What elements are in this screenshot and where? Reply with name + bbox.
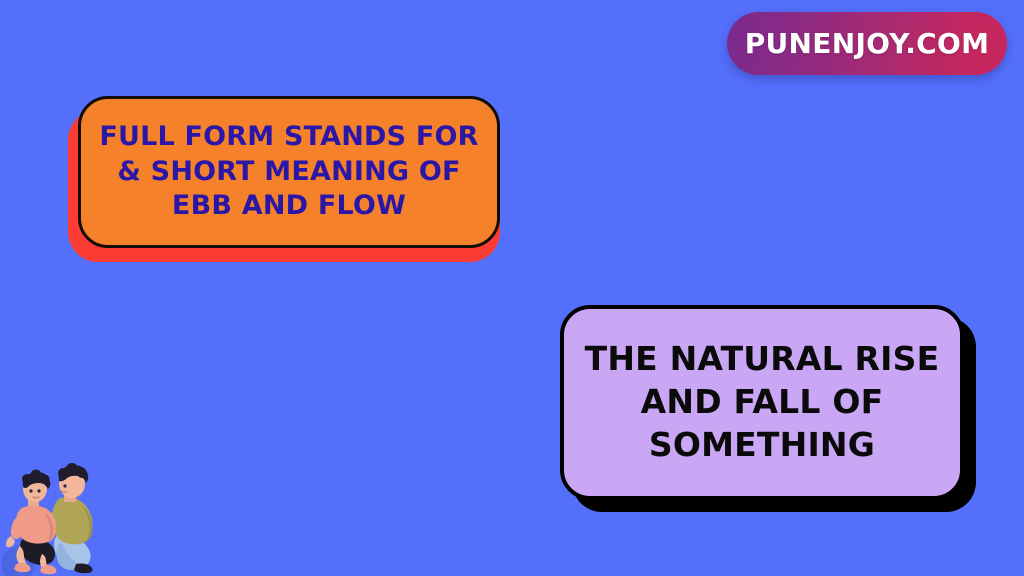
- slide-canvas: PUNENJOY.COM FULL FORM STANDS FOR & SHOR…: [0, 0, 1024, 576]
- answer-card-text: THE NATURAL RISE AND FALL OF SOMETHING: [585, 338, 940, 467]
- question-card: FULL FORM STANDS FOR & SHORT MEANING OF …: [68, 96, 518, 266]
- answer-card-face: THE NATURAL RISE AND FALL OF SOMETHING: [560, 305, 964, 500]
- question-card-text: FULL FORM STANDS FOR & SHORT MEANING OF …: [99, 120, 478, 224]
- two-seated-people-illustration: [2, 446, 124, 576]
- brand-badge[interactable]: PUNENJOY.COM: [727, 12, 1007, 75]
- question-card-face: FULL FORM STANDS FOR & SHORT MEANING OF …: [78, 96, 500, 248]
- answer-card: THE NATURAL RISE AND FALL OF SOMETHING: [560, 305, 980, 515]
- brand-label: PUNENJOY.COM: [745, 30, 990, 58]
